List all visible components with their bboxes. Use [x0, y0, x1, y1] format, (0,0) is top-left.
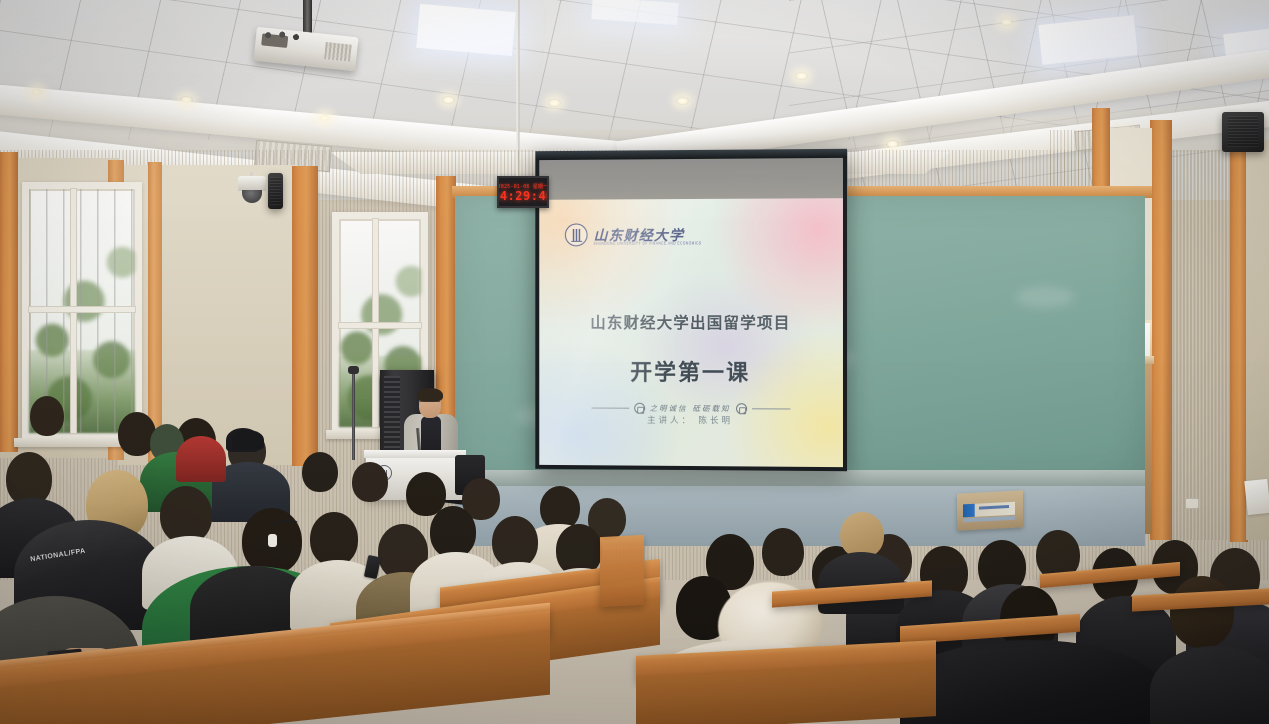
wall-pillar-left-3 — [148, 162, 162, 462]
right-wall-panel-a — [1170, 150, 1232, 540]
chalkboard-chalk-rail — [455, 470, 1145, 486]
wall-speaker-right — [1222, 112, 1264, 152]
audience-head-far-6 — [302, 452, 338, 492]
audience-head-mid-6 — [492, 516, 538, 568]
lecture-hall-photo: 山东财经大学 SHANDONG UNIVERSITY OF FINANCE AN… — [0, 0, 1269, 724]
footer-motto-right: 砥砺载知 — [692, 403, 730, 414]
downlight-10 — [1000, 18, 1013, 26]
audience-head-cap-2 — [232, 430, 264, 450]
university-seal-icon — [565, 223, 588, 246]
downlight-6 — [676, 97, 689, 105]
footer-motto-left: 之明诚信 — [650, 403, 688, 414]
wall-speaker-left — [268, 173, 283, 209]
downlight-3 — [318, 114, 331, 122]
downlight-7 — [795, 72, 808, 80]
window-left-mullion-h — [29, 307, 135, 312]
audience-earbud-icon — [268, 534, 277, 547]
chalkboard-smudge-3 — [1015, 286, 1075, 308]
university-logo-subtext: SHANDONG UNIVERSITY OF FINANCE AND ECONO… — [594, 240, 702, 246]
mic-stand — [352, 372, 355, 460]
presentation-slide: 山东财经大学 SHANDONG UNIVERSITY OF FINANCE AN… — [539, 198, 843, 467]
wall-pillar-right-1 — [1150, 120, 1172, 540]
audience-head-far-1 — [30, 396, 64, 436]
footer-rule-right — [752, 408, 790, 409]
slide-presenter-line: 主讲人： 陈长明 — [539, 413, 843, 427]
audience-head-mid-5 — [430, 506, 476, 558]
downlight-2 — [180, 96, 193, 104]
desk-left-edge-stub — [600, 535, 644, 607]
slide-footer-ornament: 之明诚信 砥砺载知 — [539, 402, 843, 414]
presenter-glasses-icon — [420, 401, 440, 406]
projection-screen: 山东财经大学 SHANDONG UNIVERSITY OF FINANCE AN… — [535, 149, 847, 471]
slide-subtitle: 山东财经大学出国留学项目 — [539, 311, 843, 333]
cardboard-carton — [957, 490, 1023, 530]
footer-rule-left — [591, 408, 629, 409]
wall-power-socket — [1185, 498, 1199, 509]
led-clock-time: 14:29:40 — [497, 190, 549, 202]
wall-notice-paper — [1244, 479, 1269, 515]
led-wall-clock: 2025-01-06 星期一 14:29:40 — [497, 176, 549, 208]
downlight-5 — [548, 99, 561, 107]
downlight-8 — [886, 140, 899, 148]
mic-head-icon — [348, 366, 359, 374]
wall-pillar-center-left — [292, 166, 318, 466]
projector-mount-pole — [303, 0, 312, 36]
lectern-top — [364, 450, 466, 458]
wall-pillar-left-1 — [0, 152, 18, 452]
ceiling-panel-light-1 — [416, 4, 515, 56]
window-left-2-mullion-h — [339, 323, 421, 328]
audience-body-red-far — [176, 436, 226, 482]
downlight-1 — [30, 88, 43, 96]
screen-letterbox-band — [539, 158, 843, 200]
dome-camera — [238, 176, 266, 191]
downlight-4 — [442, 96, 455, 104]
presenter-hair — [417, 388, 443, 402]
audience-head-foreground-right-2 — [1170, 576, 1234, 648]
audience-head-far-7 — [352, 462, 388, 502]
slide-title: 开学第一课 — [539, 355, 843, 388]
footer-seal-left-icon — [634, 403, 645, 414]
footer-seal-right-icon — [736, 403, 747, 414]
slide-presenter-label: 主讲人： — [647, 415, 693, 425]
slide-presenter-name: 陈长明 — [698, 415, 733, 425]
audience-head-r-2 — [762, 528, 804, 576]
audience-head-mid-3 — [310, 512, 358, 566]
